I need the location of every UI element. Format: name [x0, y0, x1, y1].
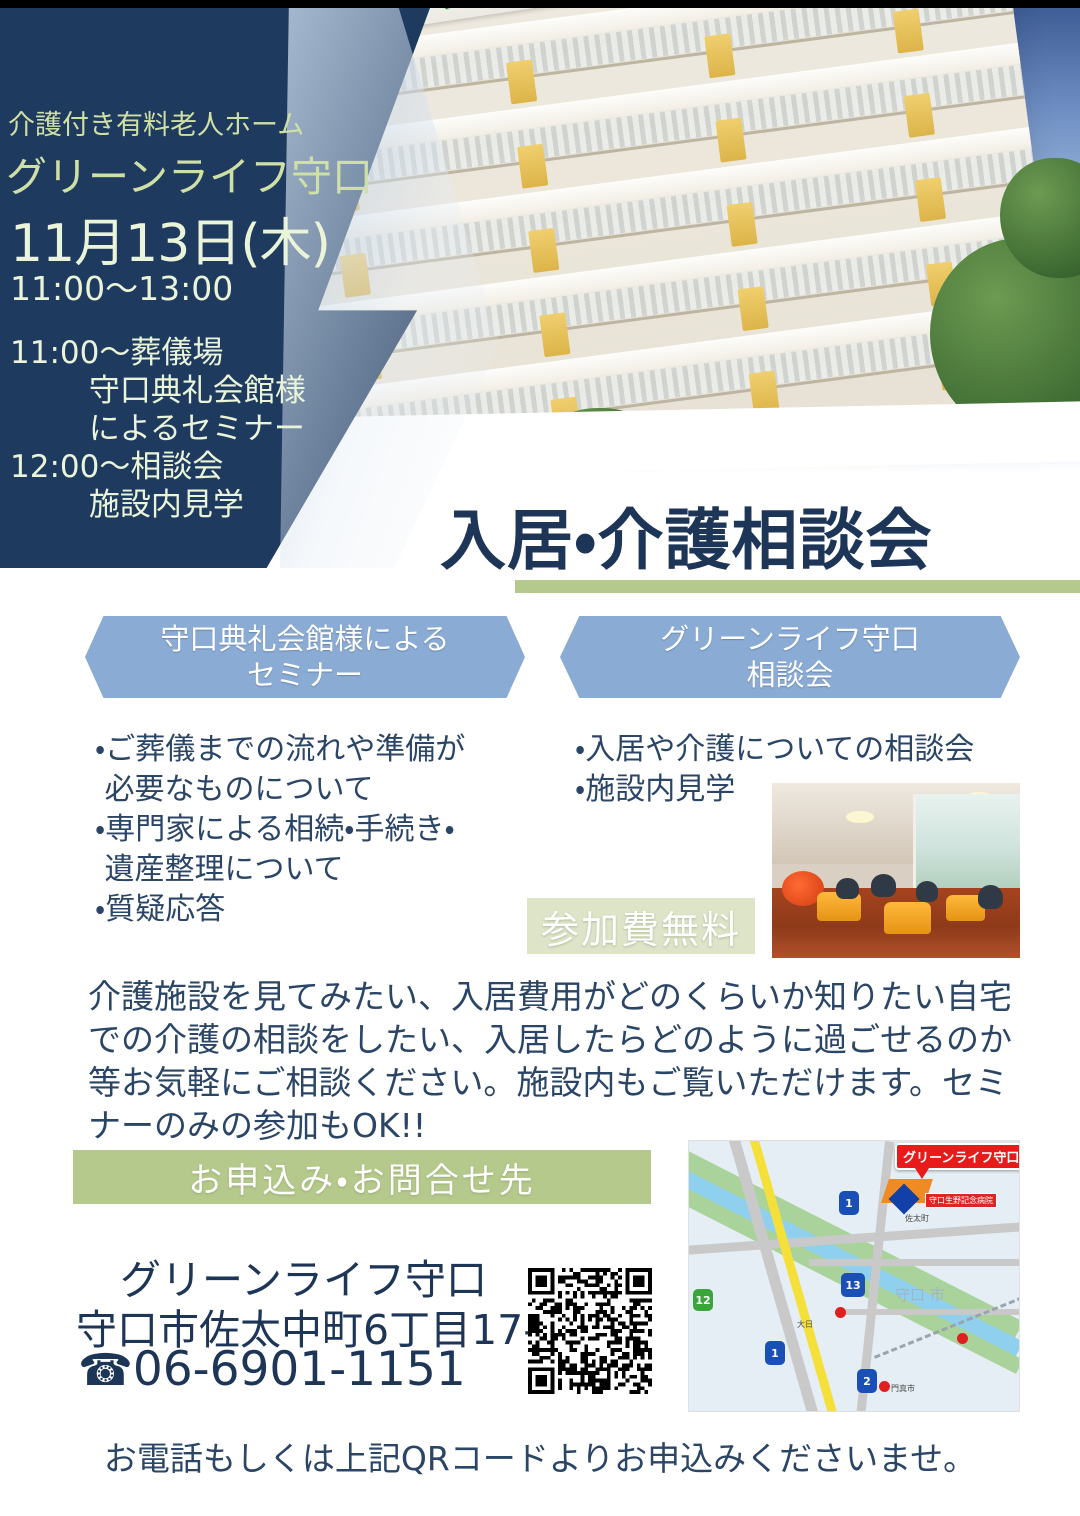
balcony-pillar [893, 8, 924, 53]
info-panel-text-layer: 介護付き有料老人ホーム グリーンライフ守口 11月13日(木) 11:00〜13… [4, 8, 424, 568]
map-place-label: 大日 [797, 1319, 813, 1330]
balcony-pillar [704, 33, 735, 78]
title-underline-bar [515, 580, 1080, 593]
ceiling-lamp [846, 811, 873, 823]
page-title: 入居・介護相談会 [440, 487, 932, 583]
map-route-badge-13: 13 [841, 1273, 865, 1297]
top-black-bar [0, 0, 1080, 8]
map-road [729, 1140, 820, 1412]
map-route-badge-12: 12 [693, 1289, 713, 1311]
map-intersection-dot [835, 1307, 846, 1318]
balcony-pillar [915, 177, 946, 222]
contact-phone-number: 06-6901-1151 [133, 1342, 466, 1397]
footer-note: お電話もしくは上記QRコードよりお申込みくださいませ。 [0, 1432, 1080, 1480]
map-place-label: 門真市 [891, 1383, 915, 1394]
balcony-pillar [506, 59, 537, 104]
section-banner-consultation: グリーンライフ守口 相談会 [560, 616, 1020, 698]
flyer-page: ハホーム グリーンライフ守口 [0, 0, 1080, 1516]
telephone-icon: ☎ [78, 1345, 133, 1396]
seated-person [978, 885, 1003, 910]
map-callout-tail [913, 1165, 931, 1179]
map-road [809, 1259, 1020, 1266]
map-intersection-dot [879, 1381, 890, 1392]
seated-person [916, 881, 938, 902]
map-intersection-dot [957, 1333, 968, 1344]
balcony-pillar [517, 144, 548, 189]
balcony-pillar [726, 202, 757, 247]
map-hospital-tag: 守口生野記念病院 [925, 1193, 997, 1208]
qr-code[interactable] [528, 1268, 652, 1394]
facility-type-label: 介護付き有料老人ホーム [8, 103, 304, 142]
lead-paragraph: 介護施設を見てみたい、入居費用がどのくらいか知りたい自宅での介護の相談をしたい、… [88, 975, 1018, 1147]
contact-heading: お申込み・お問合せ先 [73, 1150, 651, 1204]
map-place-label: 佐太町 [905, 1213, 929, 1224]
map-route-badge-1b: 1 [765, 1341, 785, 1365]
free-participation-badge: 参加費無料 [527, 898, 755, 954]
balcony-pillar [715, 118, 746, 163]
section-banner-seminar: 守口典礼会館様による セミナー [85, 616, 525, 698]
balcony-pillar [528, 228, 559, 273]
seated-person [871, 874, 896, 897]
event-time-range: 11:00〜13:00 [10, 262, 233, 310]
map-city-label: 守口 市 [895, 1287, 945, 1304]
seminar-bullet-list: ・ご葬儀までの流れや準備が 必要なものについて ・専門家による相続・手続き・ 遺… [95, 730, 465, 930]
seated-person [836, 878, 858, 899]
balcony-pillar [738, 286, 769, 331]
facility-name: グリーンライフ守口 [6, 143, 373, 203]
balcony-pillar [904, 93, 935, 138]
balcony-pillar [539, 312, 570, 357]
contact-phone[interactable]: ☎06-6901-1151 [78, 1342, 466, 1397]
map-route-badge-1: 1 [839, 1191, 859, 1215]
banner-line-2: 相談会 [746, 657, 833, 693]
lounge-interior-photo [772, 783, 1020, 958]
banner-line-1: グリーンライフ守口 [660, 621, 920, 657]
banner-line-2: セミナー [247, 657, 363, 693]
event-schedule: 11:00〜葬儀場 守口典礼会館様 によるセミナー 12:00〜相談会 施設内見… [10, 334, 306, 524]
lounge-chair [884, 902, 931, 934]
banner-line-1: 守口典礼会館様による [160, 621, 449, 657]
map-route-badge-2: 2 [857, 1369, 877, 1393]
location-map[interactable]: グリーンライフ守口 守口生野記念病院 1 13 12 1 2 守口 市 大日 門… [688, 1140, 1020, 1412]
